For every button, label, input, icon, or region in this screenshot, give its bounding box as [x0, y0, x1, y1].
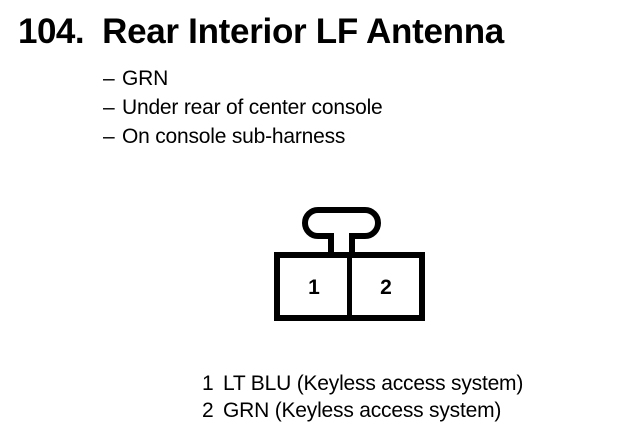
notes-list: – GRN – Under rear of center console – O…: [103, 64, 583, 151]
legend-pin-description: GRN (Keyless access system): [223, 397, 501, 424]
note-text: Under rear of center console: [122, 93, 383, 122]
bullet-dash-icon: –: [103, 122, 122, 151]
cavity-number-1: 1: [308, 276, 320, 299]
list-item: – Under rear of center console: [103, 93, 583, 122]
connector-diagram: 1 2: [270, 202, 435, 327]
legend-pin-description: LT BLU (Keyless access system): [223, 370, 523, 397]
list-item: – On console sub-harness: [103, 122, 583, 151]
cavity-number-2: 2: [380, 276, 392, 299]
pin-legend: 1 LT BLU (Keyless access system) 2 GRN (…: [202, 370, 602, 424]
legend-pin-number: 2: [202, 397, 223, 424]
bullet-dash-icon: –: [103, 64, 122, 93]
item-number: 104.: [18, 12, 84, 52]
legend-row: 2 GRN (Keyless access system): [202, 397, 602, 424]
item-title: Rear Interior LF Antenna: [102, 12, 504, 52]
page-title: 104. Rear Interior LF Antenna: [18, 12, 608, 56]
bullet-dash-icon: –: [103, 93, 122, 122]
legend-pin-number: 1: [202, 370, 223, 397]
note-text: On console sub-harness: [122, 122, 345, 151]
note-text: GRN: [122, 64, 168, 93]
legend-row: 1 LT BLU (Keyless access system): [202, 370, 602, 397]
latch-tab-icon: [305, 210, 378, 255]
list-item: – GRN: [103, 64, 583, 93]
